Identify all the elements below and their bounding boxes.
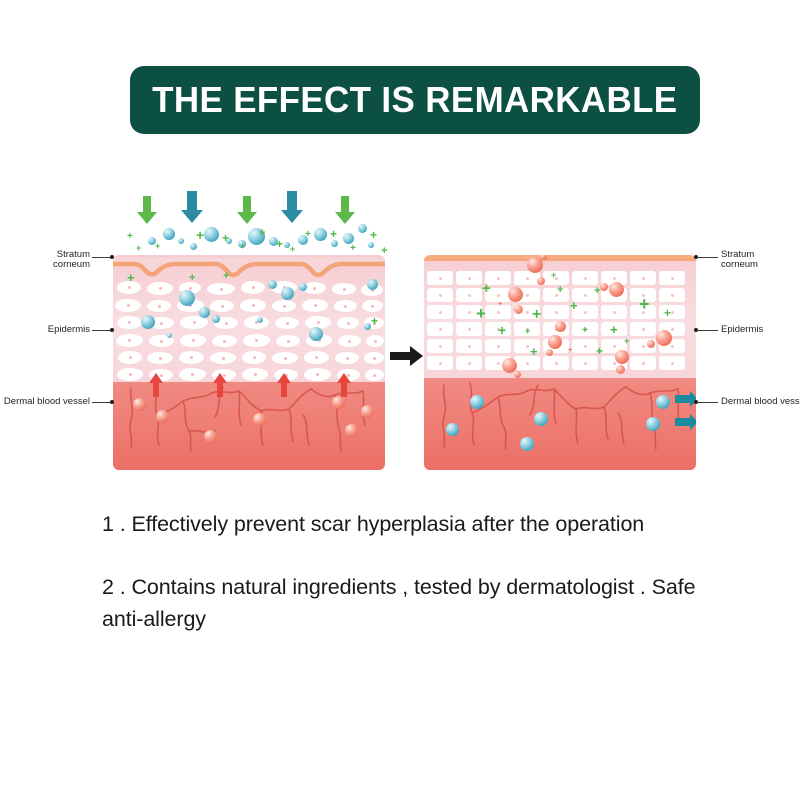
teal-bubble	[281, 287, 294, 300]
teal-bubble	[268, 280, 277, 289]
leader-dot	[110, 400, 114, 404]
leader-line	[698, 330, 718, 331]
teal-bubble	[309, 327, 323, 341]
skin-panel-before: + + + +	[113, 255, 385, 470]
teal-bubble	[367, 279, 378, 290]
green-plus-icon: +	[189, 273, 195, 284]
green-plus-icon: +	[330, 228, 337, 240]
green-plus-icon: +	[290, 245, 295, 254]
teal-bubble	[204, 227, 219, 242]
skin-panel-after: + + + + + + + + + + + + + + + + + +	[424, 255, 696, 470]
dermis-outflow-arrows	[424, 255, 696, 470]
dermis-up-arrows-before	[113, 255, 385, 470]
label-epidermis-right: Epidermis	[721, 325, 800, 335]
teal-bubble	[364, 323, 371, 330]
benefits-list: 1 . Effectively prevent scar hyperplasia…	[102, 508, 722, 666]
absorption-arrows-before	[113, 190, 385, 262]
teal-bubble	[368, 242, 374, 248]
transition-arrow-icon	[390, 345, 424, 367]
leader-line	[698, 402, 718, 403]
label-dermal-blood-vessel-left: Dermal blood vessel	[0, 397, 90, 407]
teal-bubble	[212, 315, 220, 323]
benefit-item-1: 1 . Effectively prevent scar hyperplasia…	[102, 508, 722, 541]
skin-diagram: + + + + + + +	[0, 180, 800, 490]
green-plus-icon: +	[127, 271, 135, 284]
green-plus-icon: +	[259, 228, 265, 239]
teal-bubble	[199, 307, 210, 318]
teal-bubble	[314, 228, 327, 241]
green-plus-icon: +	[240, 242, 245, 251]
benefit-item-2: 2 . Contains natural ingredients , teste…	[102, 571, 722, 636]
green-plus-icon: +	[381, 246, 387, 257]
green-plus-icon: +	[155, 242, 160, 251]
green-plus-icon: +	[127, 232, 133, 242]
green-plus-icon: +	[136, 244, 141, 253]
green-plus-icon: +	[305, 230, 311, 240]
green-plus-icon: +	[222, 232, 229, 244]
teal-bubble	[257, 317, 263, 323]
leader-dot	[110, 328, 114, 332]
leader-line	[698, 257, 718, 258]
green-plus-icon: +	[196, 228, 204, 242]
teal-bubble	[178, 238, 184, 244]
green-plus-icon: +	[370, 229, 377, 241]
teal-bubble	[179, 290, 195, 306]
teal-bubble	[167, 333, 172, 338]
green-plus-icon: +	[371, 315, 378, 327]
green-plus-icon: +	[350, 244, 356, 254]
label-stratum-corneum-right: Stratum corneum	[721, 250, 800, 271]
teal-bubble	[358, 224, 367, 233]
label-stratum-corneum-left: Stratum corneum	[10, 250, 90, 271]
teal-bubble	[331, 240, 338, 247]
leader-dot	[110, 255, 114, 259]
label-epidermis-left: Epidermis	[10, 325, 90, 335]
green-plus-icon: +	[276, 238, 283, 250]
teal-bubble	[299, 283, 307, 291]
teal-bubble	[190, 243, 197, 250]
green-plus-icon: +	[223, 271, 229, 282]
teal-bubble	[163, 228, 175, 240]
teal-bubble	[141, 315, 155, 329]
title-banner: THE EFFECT IS REMARKABLE	[130, 66, 700, 134]
label-dermal-blood-vessel-right: Dermal blood vessel	[721, 397, 800, 407]
page-title: THE EFFECT IS REMARKABLE	[152, 79, 677, 121]
